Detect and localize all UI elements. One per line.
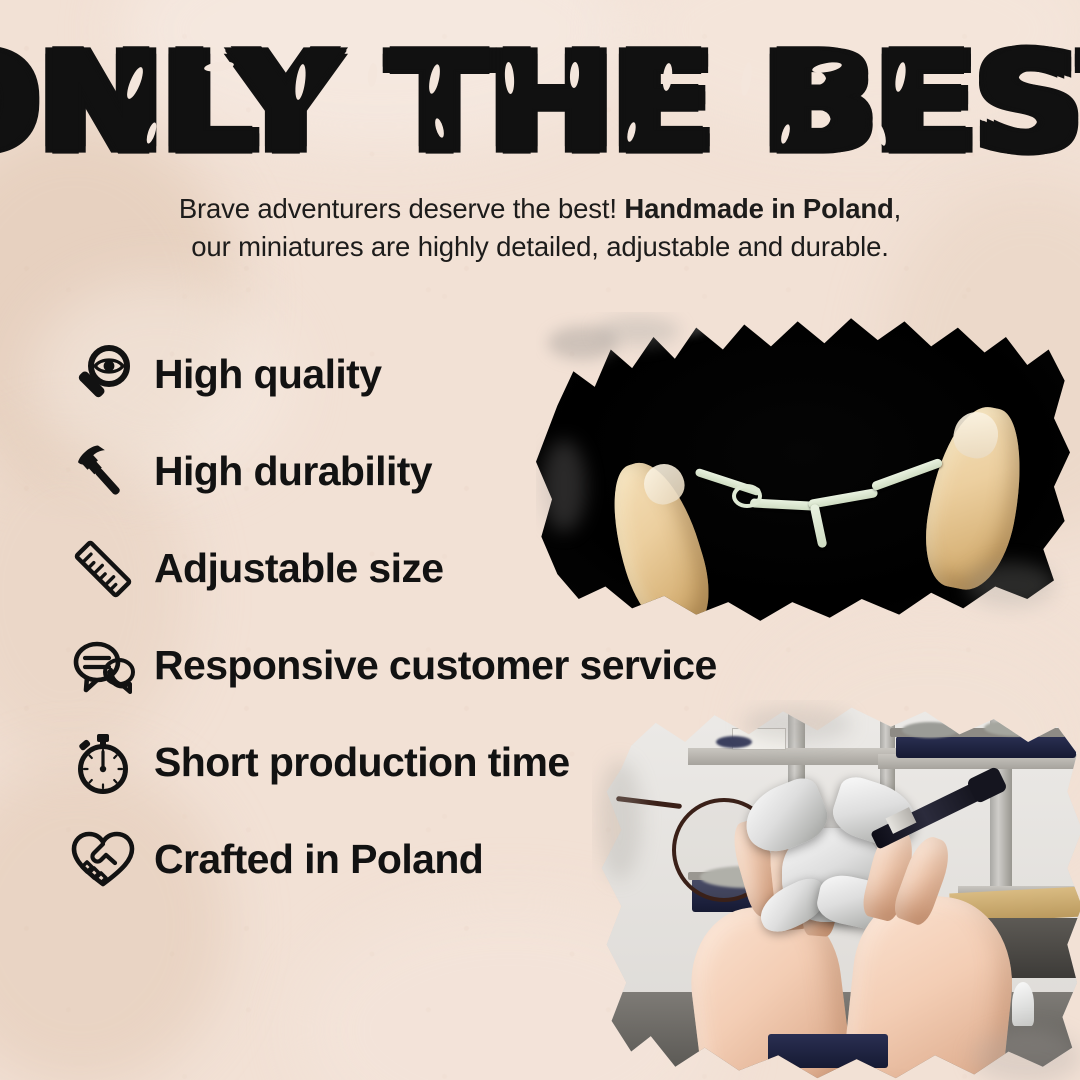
subtitle-text-regular: Brave adventurers deserve the best! [179, 193, 625, 224]
hammer-icon [60, 440, 146, 504]
list-item-label: Short production time [146, 742, 570, 783]
stopwatch-icon [60, 731, 146, 795]
subtitle-text-comma: , [894, 193, 902, 224]
bendable-miniature-photo [536, 312, 1070, 624]
shelf-label-tag [732, 728, 786, 750]
subtitle-line-1: Brave adventurers deserve the best! Hand… [179, 193, 901, 224]
edge-speckle [602, 314, 654, 336]
list-item-label: High quality [146, 354, 381, 395]
speech-bubbles-icon [60, 634, 146, 698]
subtitle-line-2: our miniatures are highly detailed, adju… [191, 231, 888, 262]
tray-lip [890, 728, 1080, 737]
list-item-label: High durability [146, 451, 432, 492]
ink-scatter [548, 326, 618, 360]
photo-torn-mask [536, 312, 1070, 624]
miniature-figure [1012, 982, 1034, 1026]
miniature-tray [896, 736, 1076, 758]
miniature-rod-tail [810, 504, 828, 549]
infographic-canvas: ONLY THE BEST Brave adventurers deserve … [0, 0, 1080, 1080]
list-item-label: Adjustable size [146, 548, 443, 589]
photo-content [536, 312, 1070, 624]
subtitle: Brave adventurers deserve the best! Hand… [0, 190, 1080, 266]
miniature-tray [768, 1034, 888, 1068]
miniature-rod-segment [871, 458, 944, 492]
magnifier-eye-icon [60, 343, 146, 407]
list-item-label: Crafted in Poland [146, 839, 483, 880]
photo-content [592, 700, 1080, 1080]
subtitle-text-bold: Handmade in Poland [624, 193, 893, 224]
heart-handshake-icon [60, 828, 146, 892]
ruler-icon [60, 537, 146, 601]
edge-speckle [560, 322, 602, 346]
page-title: ONLY THE BEST [0, 36, 1080, 172]
photo-torn-mask [592, 700, 1080, 1080]
ink-scatter [596, 316, 680, 346]
list-item-label: Responsive customer service [146, 645, 717, 686]
miniature-rod-eyelet [732, 484, 762, 508]
edge-speckle [668, 318, 708, 336]
workshop-painting-photo [592, 700, 1080, 1080]
